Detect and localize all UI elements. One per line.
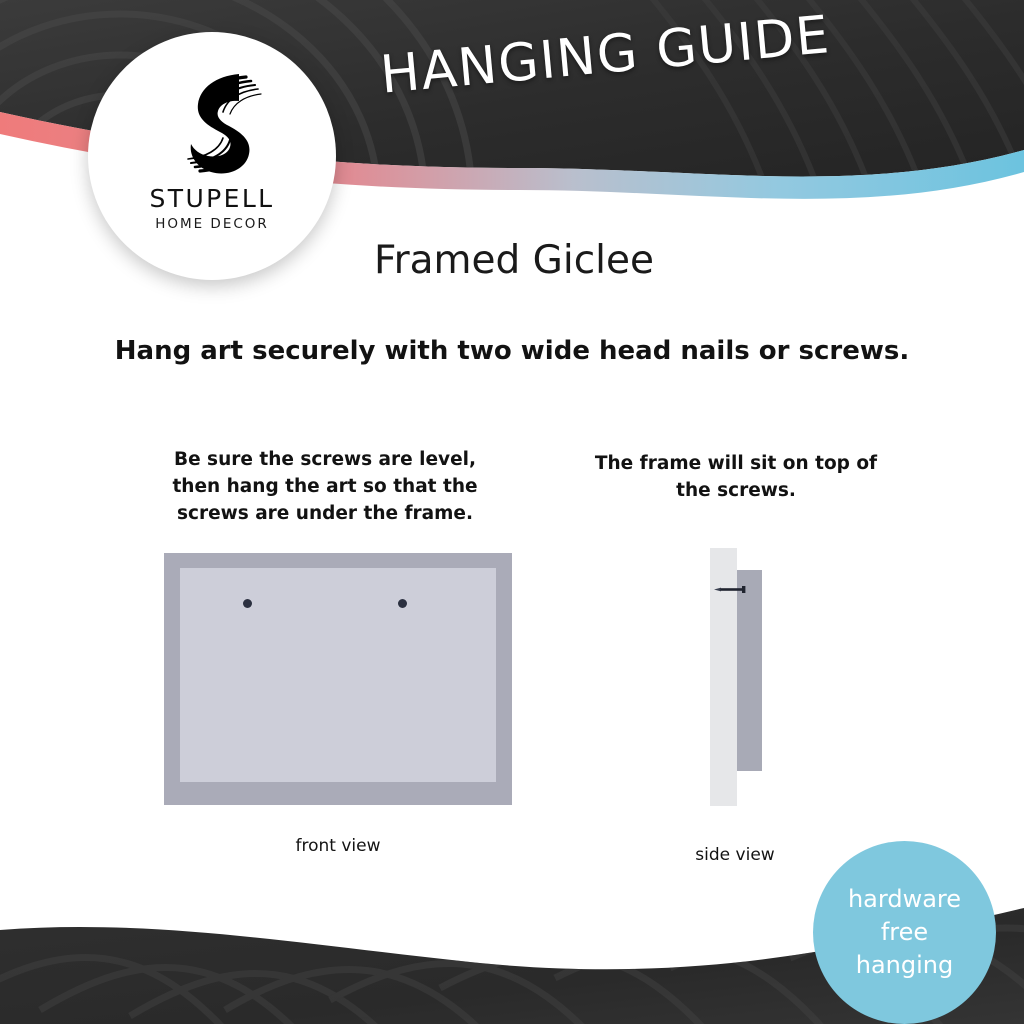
front-view-caption: Be sure the screws are level, then hang … (150, 446, 500, 528)
product-type-label: Framed Giclee (374, 238, 654, 283)
nail-icon (714, 586, 750, 593)
screw-dot-left (243, 599, 252, 608)
side-view-frame (737, 570, 762, 771)
side-view-label: side view (640, 845, 830, 865)
stupell-swoosh-icon (156, 66, 268, 184)
hanging-guide-page: STUPELL HOME DECOR HANGING GUIDE Framed … (0, 0, 1024, 1024)
brand-name: STUPELL (150, 186, 275, 211)
screw-dot-right (398, 599, 407, 608)
front-view-label: front view (188, 836, 488, 856)
page-title: HANGING GUIDE (378, 5, 833, 106)
main-instruction: Hang art securely with two wide head nai… (0, 336, 1024, 366)
front-view-diagram (164, 553, 512, 805)
front-view-art-panel (180, 568, 496, 782)
badge-line-2: free (881, 916, 928, 949)
side-view-caption: The frame will sit on top of the screws. (590, 450, 882, 504)
badge-line-3: hanging (856, 949, 953, 982)
brand-logo-badge: STUPELL HOME DECOR (88, 32, 336, 280)
badge-line-1: hardware (848, 883, 961, 916)
hardware-free-badge: hardware free hanging (813, 841, 996, 1024)
brand-tagline: HOME DECOR (155, 218, 269, 232)
